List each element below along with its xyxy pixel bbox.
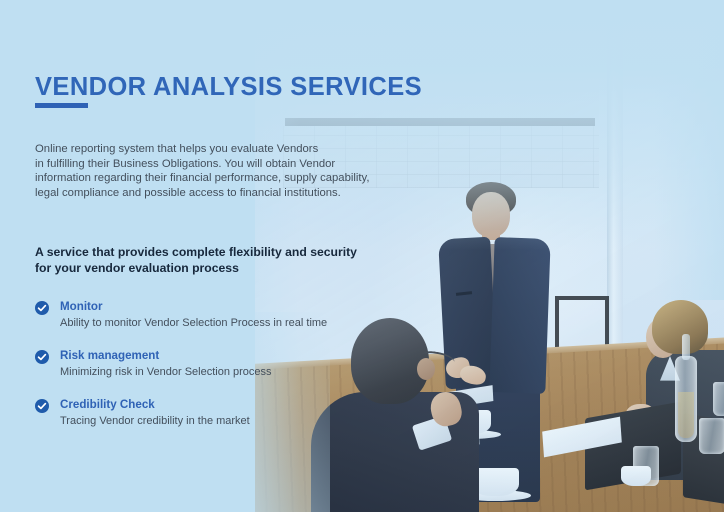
feature-title: Risk management	[60, 349, 455, 363]
intro-line-2: in fulfilling their Business Obligations…	[35, 157, 415, 172]
intro-paragraph: Online reporting system that helps you e…	[35, 142, 415, 200]
feature-list: Monitor Ability to monitor Vendor Select…	[35, 300, 455, 428]
feature-description: Minimizing risk in Vendor Selection proc…	[60, 365, 455, 379]
page-title: VENDOR ANALYSIS SERVICES	[35, 73, 422, 102]
subheading: A service that provides complete flexibi…	[35, 245, 435, 276]
feature-description: Tracing Vendor credibility in the market	[60, 414, 455, 428]
feature-title: Monitor	[60, 300, 455, 314]
feature-title: Credibility Check	[60, 398, 455, 412]
feature-description: Ability to monitor Vendor Selection Proc…	[60, 316, 455, 330]
intro-line-4: legal compliance and possible access to …	[35, 186, 415, 201]
title-underline-rule	[35, 103, 88, 108]
subheading-line-2: for your vendor evaluation process	[35, 261, 435, 277]
check-circle-icon	[35, 350, 49, 364]
intro-line-3: information regarding their financial pe…	[35, 171, 415, 186]
intro-line-1: Online reporting system that helps you e…	[35, 142, 415, 157]
check-circle-icon	[35, 301, 49, 315]
slide-canvas: VENDOR ANALYSIS SERVICES Online reportin…	[0, 0, 724, 512]
feature-item-monitor: Monitor Ability to monitor Vendor Select…	[35, 300, 455, 330]
check-circle-icon	[35, 399, 49, 413]
slide-content: VENDOR ANALYSIS SERVICES Online reportin…	[0, 0, 724, 512]
feature-item-risk-management: Risk management Minimizing risk in Vendo…	[35, 349, 455, 379]
feature-item-credibility-check: Credibility Check Tracing Vendor credibi…	[35, 398, 455, 428]
subheading-line-1: A service that provides complete flexibi…	[35, 245, 435, 261]
